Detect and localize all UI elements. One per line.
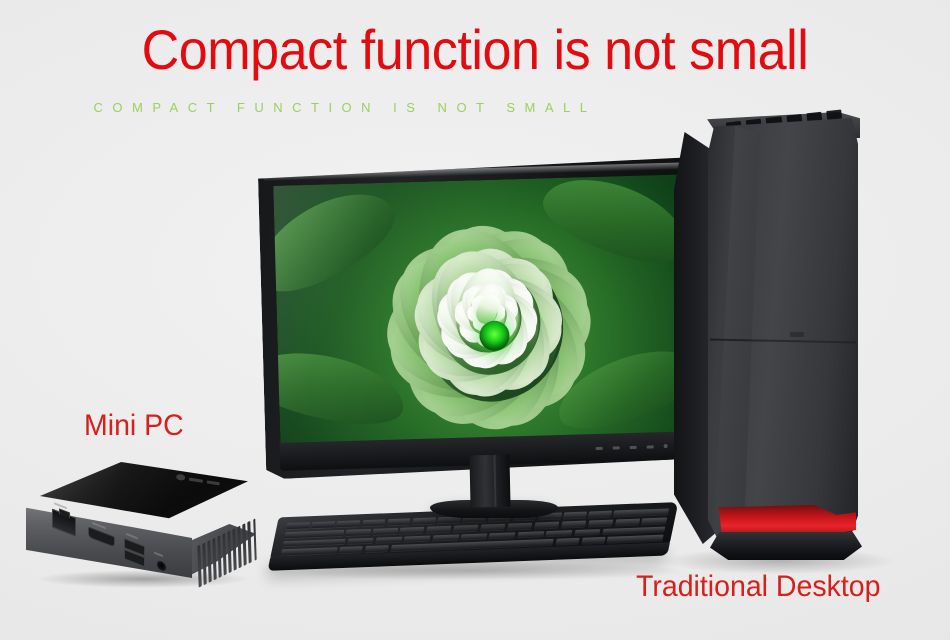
monitor-screen [274, 174, 698, 446]
key [337, 520, 361, 527]
page-title: Compact function is not small [33, 22, 917, 78]
vent-slot [212, 538, 216, 581]
key [286, 522, 310, 529]
logo-mark [176, 474, 186, 481]
wallpaper-petal [418, 235, 572, 393]
key [426, 526, 452, 533]
wallpaper-petal [368, 225, 583, 419]
key [345, 529, 371, 536]
wallpaper-petal [368, 212, 588, 426]
logo-text [189, 477, 203, 482]
key [404, 535, 431, 542]
vent-slot [228, 531, 232, 574]
key [588, 519, 614, 526]
wallpaper-flower-center [479, 320, 510, 351]
monitor-power-button[interactable] [664, 444, 668, 448]
key [546, 530, 573, 537]
key [362, 519, 386, 526]
wallpaper-petal [428, 275, 532, 370]
wallpaper-petal [392, 209, 576, 420]
wallpaper-petal [430, 275, 527, 357]
monitor-minus-button[interactable] [613, 446, 620, 449]
vent-slot [238, 526, 242, 569]
key [372, 528, 398, 535]
logo-text [206, 480, 220, 485]
label-traditional-desktop: Traditional Desktop [636, 570, 880, 604]
tower-logo [790, 332, 804, 337]
wallpaper-petal [417, 239, 575, 393]
key [563, 512, 587, 519]
wallpaper-leaf [274, 340, 411, 435]
monitor-neck [469, 455, 510, 508]
hdmi-port[interactable] [88, 526, 115, 547]
wallpaper-petal [429, 273, 533, 375]
wallpaper-petal [381, 255, 569, 404]
audio-jack-port[interactable] [156, 558, 167, 573]
vent-slot [223, 533, 227, 576]
key [365, 545, 389, 552]
vent-slot [197, 545, 201, 588]
key [347, 537, 374, 544]
vent-slot [253, 518, 257, 561]
wallpaper-petal [417, 236, 551, 388]
key-tab [284, 530, 344, 538]
monitor-menu-button[interactable] [596, 446, 603, 449]
usb-icon [126, 533, 138, 540]
desktop-wallpaper [274, 174, 698, 446]
key [375, 536, 402, 543]
monitor-neck-seam [494, 455, 497, 507]
vent-slot [243, 523, 247, 566]
key-caps [283, 538, 346, 546]
key [561, 520, 587, 527]
key [387, 518, 411, 525]
key-backspace [613, 508, 669, 516]
ethernet-port[interactable] [52, 509, 76, 537]
wallpaper-petal [437, 246, 540, 377]
wallpaper-petal [400, 253, 558, 407]
key [574, 529, 601, 536]
wallpaper-petal [435, 260, 530, 364]
monitor-input-button[interactable] [647, 445, 654, 448]
monitor [258, 157, 716, 479]
tower-base-foot [710, 532, 862, 560]
wallpaper-petal [400, 256, 556, 398]
promo-banner: Compact function is not small COMPACT FU… [0, 0, 950, 640]
monitor-bezel [258, 157, 716, 479]
key [311, 521, 335, 528]
wallpaper-petal [398, 207, 592, 422]
key [642, 517, 668, 524]
wallpaper-petal [413, 220, 562, 408]
mini-pc [26, 462, 276, 592]
key [399, 527, 425, 534]
vent-slot [217, 535, 221, 578]
key [453, 524, 479, 531]
wallpaper-petal [401, 251, 553, 386]
desktop-tower [670, 112, 890, 562]
vent-slot [248, 521, 252, 564]
vent-slot [826, 109, 842, 120]
key [507, 522, 533, 529]
key [534, 521, 560, 528]
key [615, 518, 641, 525]
wallpaper-petal [435, 285, 522, 351]
key [480, 523, 506, 530]
wallpaper-petal [407, 263, 547, 378]
key [588, 511, 612, 518]
key [460, 533, 487, 540]
wallpaper-petal [407, 234, 556, 392]
key [489, 532, 516, 539]
wallpaper-petal [430, 260, 532, 364]
key [581, 537, 605, 544]
key [412, 517, 436, 524]
vent-slot [233, 528, 237, 571]
label-mini-pc: Mini PC [84, 409, 184, 443]
key-enter [602, 526, 665, 534]
key [339, 546, 363, 553]
wallpaper-leaf [274, 174, 408, 308]
key [555, 538, 579, 545]
vent-slot [202, 543, 206, 586]
monitor-plus-button[interactable] [630, 446, 637, 449]
headphone-icon [154, 552, 163, 557]
wallpaper-petal [370, 240, 581, 424]
vent-slot [207, 540, 211, 583]
key [432, 534, 459, 541]
key [517, 531, 544, 538]
